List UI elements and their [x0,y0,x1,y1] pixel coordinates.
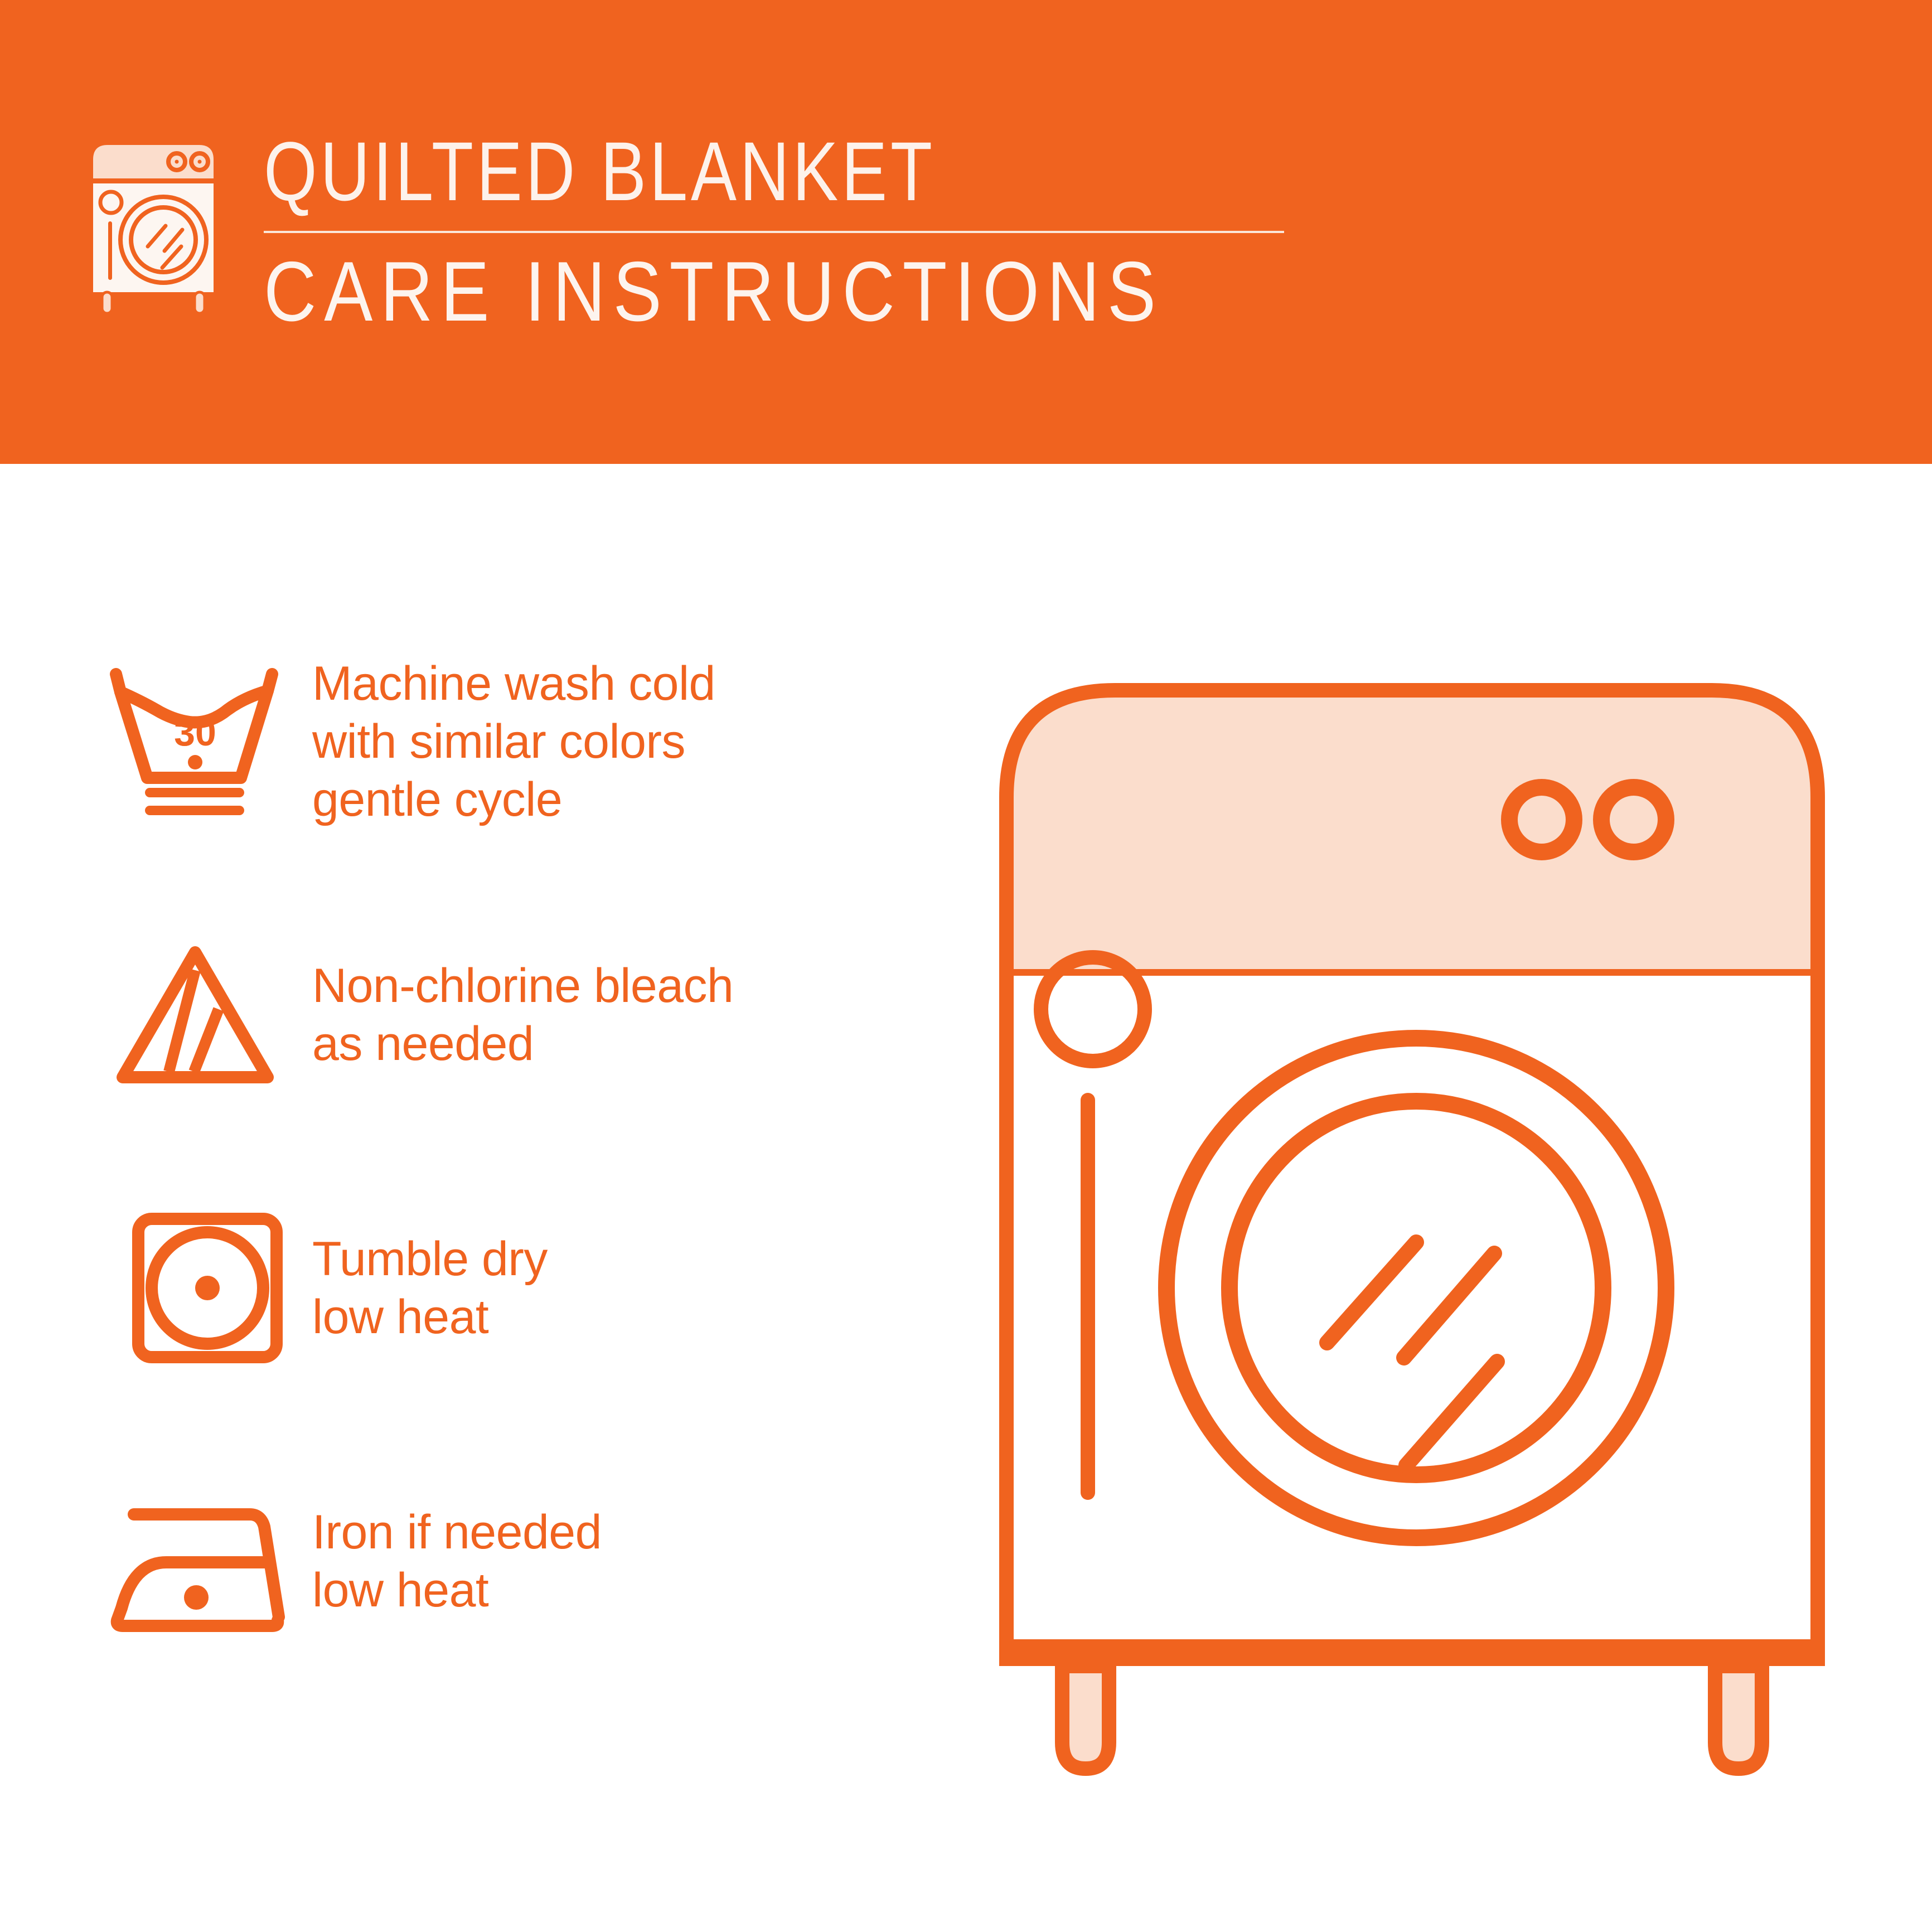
header-banner: QUILTED BLANKET CARE INSTRUCTIONS [0,0,1932,464]
instruction-text: Tumble dry low heat [307,1230,948,1346]
instruction-line: gentle cycle [312,771,948,829]
header-content: QUILTED BLANKET CARE INSTRUCTIONS [81,129,1854,364]
list-item: 30 Machine wash cold with similar colors… [84,658,948,825]
title-divider [264,231,1284,233]
front-load-washing-machine-illustration [948,641,1873,1823]
instruction-line: Machine wash cold [312,655,948,713]
instruction-line: as needed [312,1015,948,1073]
instruction-line: low heat [312,1288,948,1346]
page-title: QUILTED BLANKET [264,129,1141,219]
iron-icon [84,1478,307,1645]
instruction-text: Iron if needed low heat [307,1503,948,1619]
header-titles: QUILTED BLANKET CARE INSTRUCTIONS [264,129,1334,336]
door-handle-bar [1081,1093,1095,1500]
list-item: Non-chlorine bleach as needed [84,931,948,1098]
instruction-line: Tumble dry [312,1230,948,1288]
machine-leg-right [1715,1666,1762,1769]
tumble-dry-icon [84,1204,307,1372]
list-item: Tumble dry low heat [84,1204,948,1372]
list-item: Iron if needed low heat [84,1478,948,1645]
instruction-line: with similar colors [312,713,948,771]
instruction-line: low heat [312,1561,948,1619]
instruction-text: Non-chlorine bleach as needed [307,957,948,1073]
washing-machine-icon [81,135,243,319]
machine-leg-left [1062,1666,1109,1769]
control-panel-fill [1006,690,1818,970]
page-subtitle: CARE INSTRUCTIONS [264,248,1184,336]
instruction-list: 30 Machine wash cold with similar colors… [84,658,948,1645]
instruction-line: Iron if needed [312,1503,948,1561]
bleach-triangle-icon [84,931,307,1098]
wash-tub-30-icon: 30 [84,658,307,825]
instruction-line: Non-chlorine bleach [312,957,948,1015]
instruction-text: Machine wash cold with similar colors ge… [307,655,948,829]
care-instructions-page: QUILTED BLANKET CARE INSTRUCTIONS 30 [0,0,1932,1932]
wash-temperature-label: 30 [174,711,216,754]
